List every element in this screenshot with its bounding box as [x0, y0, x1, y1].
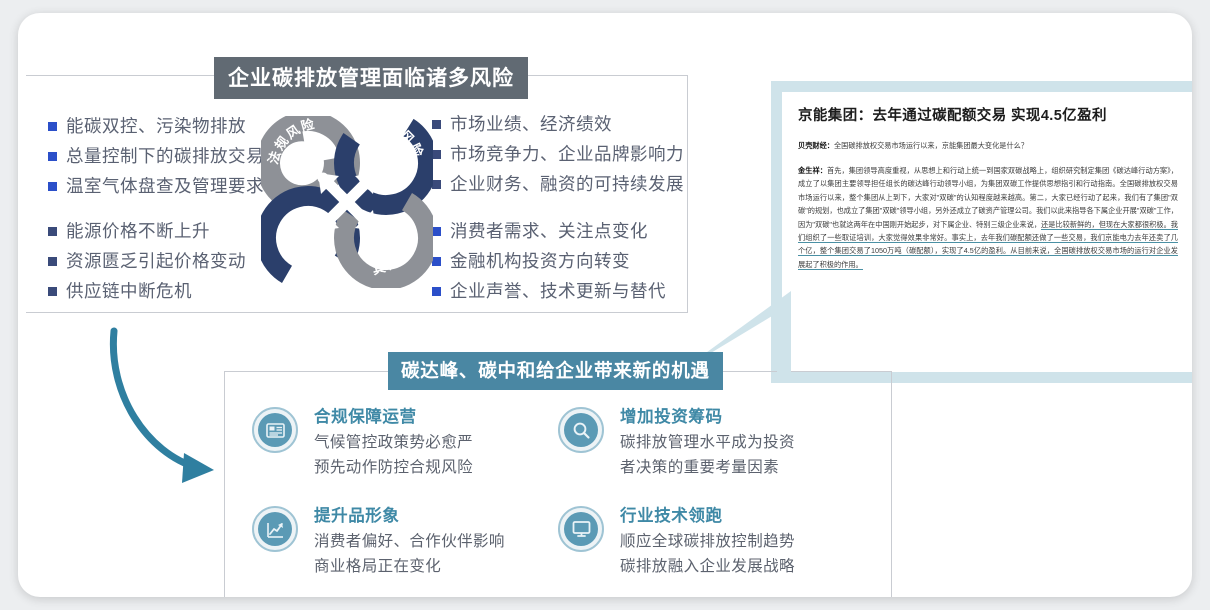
bullet-marker — [432, 287, 441, 296]
document-icon — [258, 413, 292, 447]
opportunity-item-line: 顺应全球碳排放控制趋势 — [620, 529, 795, 554]
risk-left-group-a: 能碳双控、污染物排放 总量控制下的碳排放交易 温室气体盘查及管理要求 — [48, 111, 264, 201]
bullet-marker — [48, 287, 57, 296]
main-card: 企业碳排放管理面临诸多风险 能碳双控、污染物排放 总量控制下的碳排放交易 温室气… — [18, 13, 1192, 597]
bullet-row: 总量控制下的碳排放交易 — [48, 141, 264, 171]
bullet-row: 供应链中断危机 — [48, 276, 246, 306]
bullet-row: 市场业绩、经济绩效 — [432, 109, 684, 139]
bullet-marker — [432, 257, 441, 266]
opportunity-item-compliance[interactable]: 合规保障运营 气候管控政策势必愈严 预先动作防控合规风险 — [252, 403, 473, 480]
bullet-label: 企业财务、融资的可持续发展 — [450, 169, 684, 199]
opportunity-item-line: 碳排放管理水平成为投资 — [620, 430, 795, 455]
opportunity-item-line: 碳排放融入企业发展战略 — [620, 554, 795, 579]
bullet-row: 能碳双控、污染物排放 — [48, 111, 264, 141]
news-answer: 金生祥：首先，集团领导高度重视，从思想上和行动上统一到国家双碳战略上，组织研究制… — [798, 164, 1178, 271]
news-question-label: 贝壳财经： — [798, 141, 834, 150]
bullet-row: 温室气体盘查及管理要求 — [48, 171, 264, 201]
opportunity-item-text: 提升品形象 消费者偏好、合作伙伴影响 商业格局正在变化 — [314, 502, 505, 579]
icon-ring — [252, 407, 298, 453]
bullet-marker — [48, 182, 57, 191]
opportunity-item-heading: 合规保障运营 — [314, 403, 473, 427]
bullet-marker — [432, 227, 441, 236]
trend-chart-icon — [258, 512, 292, 546]
opportunity-item-line: 消费者偏好、合作伙伴影响 — [314, 529, 505, 554]
risk-section-title: 企业碳排放管理面临诸多风险 — [214, 57, 528, 99]
opportunity-item-heading: 行业技术领跑 — [620, 502, 795, 526]
bullet-label: 供应链中断危机 — [66, 276, 192, 306]
opportunity-section-title: 碳达峰、碳中和给企业带来新的机遇 — [388, 352, 723, 390]
bullet-marker — [48, 152, 57, 161]
search-icon — [564, 413, 598, 447]
bullet-label: 能碳双控、污染物排放 — [66, 111, 246, 141]
bullet-label: 金融机构投资方向转变 — [450, 246, 630, 276]
bullet-row: 企业声誉、技术更新与替代 — [432, 276, 666, 306]
search-icon-glyph — [572, 421, 591, 440]
icon-ring — [558, 506, 604, 552]
risk-left-group-b: 能源价格不断上升 资源匮乏引起价格变动 供应链中断危机 — [48, 216, 246, 306]
news-question: 贝壳财经：全国碳排放权交易市场运行以来，京能集团最大变化是什么？ — [798, 140, 1178, 151]
bullet-marker — [48, 257, 57, 266]
opportunity-item-heading: 提升品形象 — [314, 502, 505, 526]
trend-chart-icon-glyph — [266, 520, 285, 539]
news-question-text: 全国碳排放权交易市场运行以来，京能集团最大变化是什么？ — [834, 141, 1028, 150]
bullet-marker — [432, 120, 441, 129]
icon-ring — [252, 506, 298, 552]
infographic-root: 企业碳排放管理面临诸多风险 能碳双控、污染物排放 总量控制下的碳排放交易 温室气… — [0, 0, 1210, 610]
bullet-row: 企业财务、融资的可持续发展 — [432, 169, 684, 199]
bullet-marker — [48, 227, 57, 236]
monitor-icon — [564, 512, 598, 546]
risk-right-group-b: 消费者需求、关注点变化 金融机构投资方向转变 企业声誉、技术更新与替代 — [432, 216, 666, 306]
monitor-icon-glyph — [572, 520, 591, 538]
bullet-label: 企业声誉、技术更新与替代 — [450, 276, 666, 306]
bullet-marker — [432, 150, 441, 159]
opportunity-item-line: 商业格局正在变化 — [314, 554, 505, 579]
news-answer-label: 金生祥： — [798, 166, 827, 175]
news-headline: 京能集团：去年通过碳配额交易 实现4.5亿盈利 — [798, 106, 1178, 126]
news-article-body: 京能集团：去年通过碳配额交易 实现4.5亿盈利 贝壳财经：全国碳排放权交易市场运… — [782, 92, 1192, 372]
opportunity-item-technology[interactable]: 行业技术领跑 顺应全球碳排放控制趋势 碳排放融入企业发展战略 — [558, 502, 795, 579]
risk-right-group-a: 市场业绩、经济绩效 市场竞争力、企业品牌影响力 企业财务、融资的可持续发展 — [432, 109, 684, 199]
bullet-label: 温室气体盘查及管理要求 — [66, 171, 264, 201]
opportunity-item-text: 增加投资筹码 碳排放管理水平成为投资 者决策的重要考量因素 — [620, 403, 795, 480]
opportunity-item-line: 气候管控政策势必愈严 — [314, 430, 473, 455]
opportunity-item-brand[interactable]: 提升品形象 消费者偏好、合作伙伴影响 商业格局正在变化 — [252, 502, 505, 579]
bullet-label: 市场业绩、经济绩效 — [450, 109, 612, 139]
bullet-row: 资源匮乏引起价格变动 — [48, 246, 246, 276]
bullet-marker — [48, 122, 57, 131]
opportunity-item-line: 预先动作防控合规风险 — [314, 455, 473, 480]
bullet-row: 市场竞争力、企业品牌影响力 — [432, 139, 684, 169]
icon-ring — [558, 407, 604, 453]
bullet-row: 消费者需求、关注点变化 — [432, 216, 666, 246]
bullet-marker — [432, 180, 441, 189]
opportunity-item-heading: 增加投资筹码 — [620, 403, 795, 427]
bullet-row: 能源价格不断上升 — [48, 216, 246, 246]
opportunity-item-investment[interactable]: 增加投资筹码 碳排放管理水平成为投资 者决策的重要考量因素 — [558, 403, 795, 480]
news-article-panel: 京能集团：去年通过碳配额交易 实现4.5亿盈利 贝壳财经：全国碳排放权交易市场运… — [771, 81, 1192, 383]
bullet-label: 总量控制下的碳排放交易 — [66, 141, 264, 171]
document-icon-glyph — [266, 422, 285, 439]
bullet-label: 能源价格不断上升 — [66, 216, 210, 246]
bullet-label: 资源匮乏引起价格变动 — [66, 246, 246, 276]
bullet-row: 金融机构投资方向转变 — [432, 246, 666, 276]
risk-wheel-diagram: 法规风险 市场风险 供应风险 其他风险 — [261, 116, 433, 288]
bullet-label: 消费者需求、关注点变化 — [450, 216, 648, 246]
opportunity-item-text: 合规保障运营 气候管控政策势必愈严 预先动作防控合规风险 — [314, 403, 473, 480]
bullet-label: 市场竞争力、企业品牌影响力 — [450, 139, 684, 169]
opportunity-item-line: 者决策的重要考量因素 — [620, 455, 795, 480]
opportunity-item-text: 行业技术领跑 顺应全球碳排放控制趋势 碳排放融入企业发展战略 — [620, 502, 795, 579]
